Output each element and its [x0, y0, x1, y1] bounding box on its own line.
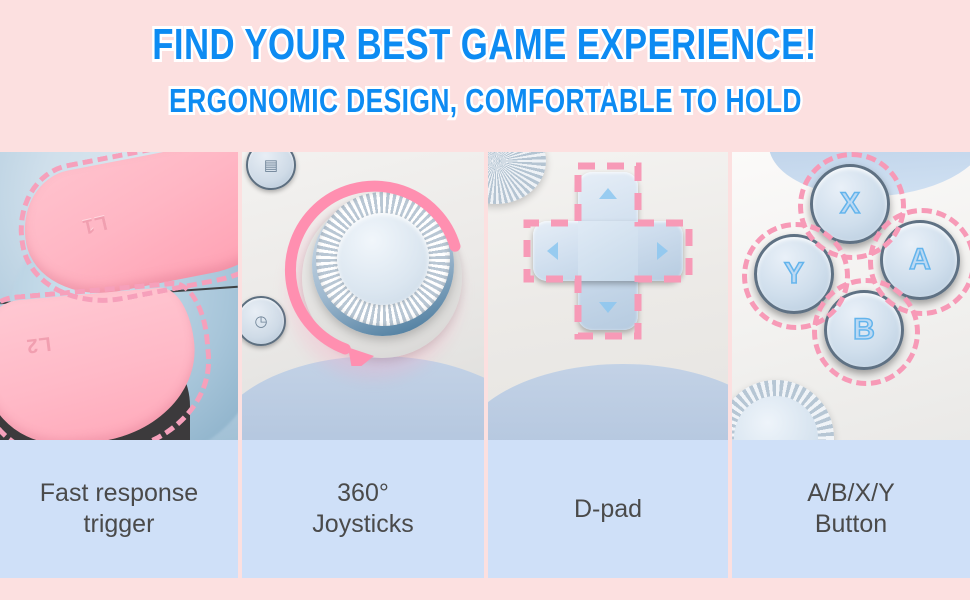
dpad-caption-line1: D-pad	[574, 495, 642, 523]
feature-panel-dpad: D-pad	[488, 152, 728, 578]
trigger-caption-line2: trigger	[84, 510, 155, 538]
abxy-caption-line1: A/B/X/Y	[807, 479, 895, 507]
feature-panel-abxy: X A Y B A/B/X/Y Button	[732, 152, 970, 578]
joystick-caption-line2: Joysticks	[312, 510, 413, 538]
trigger-photo: L1 L2	[0, 152, 238, 440]
menu-icon: ▤	[264, 156, 278, 174]
joystick-caption: 360° Joysticks	[242, 440, 484, 578]
abxy-photo: X A Y B	[732, 152, 970, 440]
promo-banner: FIND YOUR BEST GAME EXPERIENCE! ERGONOMI…	[0, 0, 970, 600]
feature-panel-strip: L1 L2 Fast response trigger	[0, 152, 970, 578]
joystick-caption-line1: 360°	[337, 479, 389, 507]
abxy-caption-line2: Button	[815, 510, 887, 538]
rotation-arrow-icon	[278, 174, 470, 366]
dpad-caption: D-pad	[488, 440, 728, 578]
headline-block: FIND YOUR BEST GAME EXPERIENCE! ERGONOMI…	[0, 0, 970, 152]
controller-blue-grip	[488, 364, 728, 440]
feature-panel-trigger: L1 L2 Fast response trigger	[0, 152, 238, 578]
abxy-caption: A/B/X/Y Button	[732, 440, 970, 578]
trigger-caption: Fast response trigger	[0, 440, 238, 578]
feature-panel-joystick: ▤ ◷ 360° Joysticks	[242, 152, 484, 578]
headline-primary: FIND YOUR BEST GAME EXPERIENCE!	[153, 22, 817, 68]
dpad-photo	[488, 152, 728, 440]
headline-secondary: ERGONOMIC DESIGN, COMFORTABLE TO HOLD	[169, 84, 802, 118]
view-icon: ◷	[254, 312, 267, 330]
l2-highlight-dashed-outline	[0, 278, 219, 440]
joystick-photo: ▤ ◷	[242, 152, 484, 440]
adjacent-joystick	[732, 380, 834, 440]
button-b-highlight-ring	[812, 278, 920, 386]
dpad-highlight-dashed-outline	[521, 160, 695, 342]
trigger-caption-line1: Fast response	[40, 479, 198, 507]
dpad-assembly	[533, 172, 683, 362]
joystick-cap	[734, 396, 818, 440]
